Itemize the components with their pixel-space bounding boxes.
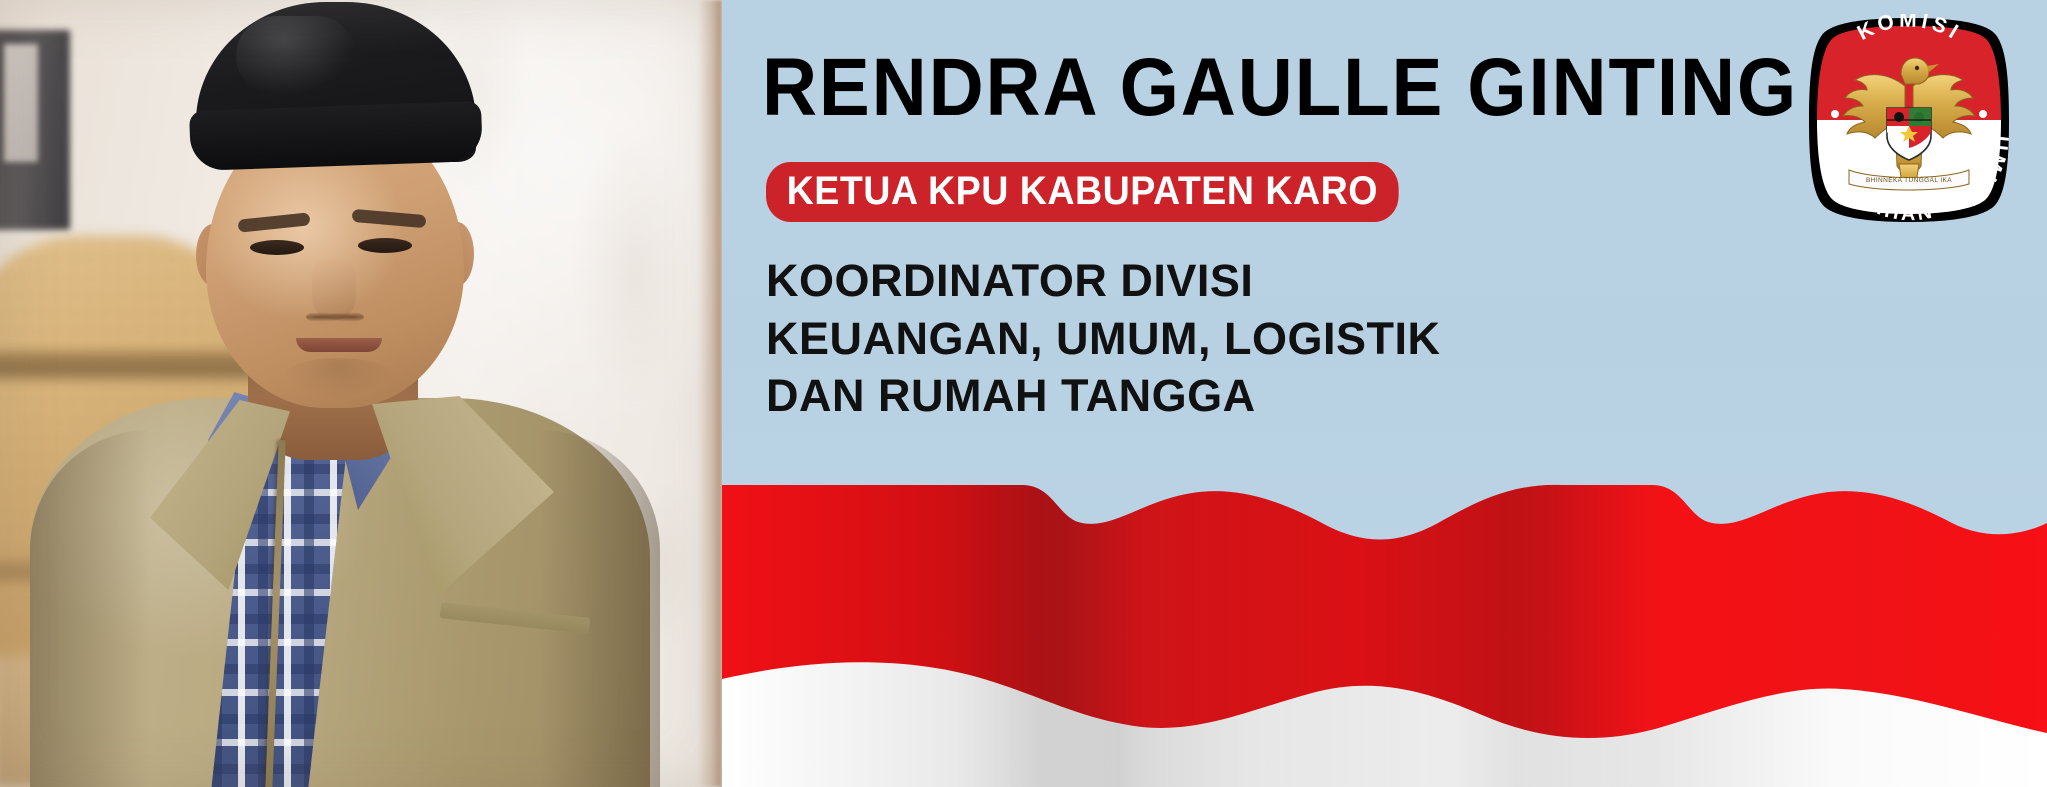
role-line-2: KEUANGAN, UMUM, LOGISTIK	[766, 310, 1440, 368]
eye-right	[358, 238, 412, 253]
info-panel: RENDRA GAULLE GINTING KETUA KPU KABUPATE…	[722, 0, 2047, 787]
jacket-shadow-right	[540, 430, 660, 787]
indonesian-flag-wave	[722, 427, 2047, 787]
nostrils	[306, 310, 364, 324]
logo-dot-right	[1979, 110, 1987, 118]
garuda-motto: BHINNEKA TUNGGAL IKA	[1866, 177, 1952, 184]
role-description: KOORDINATOR DIVISI KEUANGAN, UMUM, LOGIS…	[766, 252, 1440, 425]
person-figure	[0, 0, 722, 787]
eye-left	[250, 240, 304, 255]
logo-dot-left	[1831, 110, 1839, 118]
chin	[282, 358, 396, 398]
peci-brim	[189, 101, 483, 171]
page-title: RENDRA GAULLE GINTING	[762, 47, 1798, 129]
kpu-logo: KOMISI PEMILIHAN UMUM	[1809, 14, 2009, 226]
peci-highlight	[236, 16, 356, 96]
photo-edge-seam	[698, 0, 722, 787]
profile-banner: RENDRA GAULLE GINTING KETUA KPU KABUPATE…	[0, 0, 2047, 787]
mouth	[296, 338, 382, 352]
status-badge: KETUA KPU KABUPATEN KARO	[766, 162, 1399, 222]
role-line-1: KOORDINATOR DIVISI	[766, 252, 1440, 310]
portrait-photo	[0, 0, 722, 787]
role-line-3: DAN RUMAH TANGGA	[766, 367, 1440, 425]
